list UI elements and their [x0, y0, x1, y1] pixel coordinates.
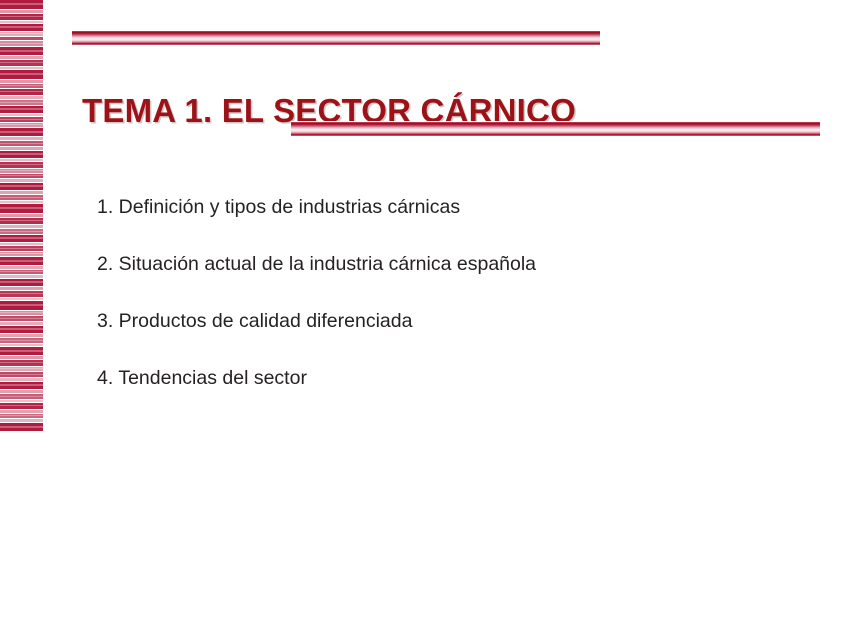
stripe-segment [0, 56, 43, 59]
stripe-segment [0, 174, 43, 178]
stripe-segment [0, 191, 43, 194]
stripe-segment [0, 311, 43, 315]
stripe-segment [0, 316, 43, 321]
stripe-segment [0, 159, 43, 161]
stripe-segment [0, 338, 43, 343]
stripe-segment [0, 169, 43, 173]
stripe-segment [0, 403, 43, 409]
slide-canvas: TEMA 1. EL SECTOR CÁRNICO 1. Definición … [0, 0, 848, 636]
stripe-segment [0, 21, 43, 23]
stripe-segment [0, 67, 43, 69]
list-item: 3. Productos de calidad diferenciada [97, 309, 797, 333]
stripe-segment [0, 37, 43, 40]
stripe-segment [0, 257, 43, 265]
stripe-segment [0, 162, 43, 168]
list-item: 1. Definición y tipos de industrias cárn… [97, 195, 797, 219]
stripe-segment [0, 414, 43, 418]
stripe-segment [0, 322, 43, 325]
stripe-segment [0, 117, 43, 122]
stripe-segment [0, 60, 43, 66]
list-item: 4. Tendencias del sector [97, 366, 797, 390]
stripe-segment [0, 390, 43, 393]
decorative-stripe-bar [0, 0, 43, 431]
stripe-segment [0, 275, 43, 278]
stripe-segment [0, 291, 43, 297]
stripe-segment [0, 423, 43, 431]
stripe-segment [0, 360, 43, 366]
stripe-segment [0, 10, 43, 13]
agenda-list: 1. Definición y tipos de industrias cárn… [97, 195, 797, 423]
stripe-segment [0, 347, 43, 355]
stripe-segment [0, 147, 43, 150]
stripe-segment [0, 214, 43, 217]
stripe-segment [0, 344, 43, 346]
stripe-segment [0, 410, 43, 413]
stripe-segment [0, 100, 43, 105]
stripe-segment [0, 47, 43, 55]
stripe-segment [0, 266, 43, 269]
stripe-segment [0, 246, 43, 251]
stripe-segment [0, 372, 43, 377]
stripe-segment [0, 24, 43, 31]
stripe-segment [0, 114, 43, 116]
stripe-segment [0, 279, 43, 286]
list-item: 2. Situación actual de la industria cárn… [97, 252, 797, 276]
stripe-segment [0, 70, 43, 79]
stripe-segment [0, 378, 43, 381]
stripe-segment [0, 235, 43, 242]
stripe-segment [0, 394, 43, 399]
stripe-segment [0, 89, 43, 95]
stripe-segment [0, 334, 43, 337]
stripe-segment [0, 298, 43, 300]
stripe-segment [0, 32, 43, 36]
stripe-segment [0, 183, 43, 190]
stripe-segment [0, 419, 43, 422]
stripe-segment [0, 400, 43, 402]
stripe-segment [0, 243, 43, 245]
title-rule-top [72, 30, 600, 45]
stripe-segment [0, 179, 43, 182]
stripe-segment [0, 0, 43, 9]
title-rule-bottom [291, 121, 820, 136]
stripe-segment [0, 326, 43, 333]
stripe-segment [0, 80, 43, 83]
stripe-segment [0, 301, 43, 310]
stripe-segment [0, 14, 43, 20]
stripe-segment [0, 204, 43, 213]
stripe-segment [0, 41, 43, 46]
stripe-segment [0, 84, 43, 88]
stripe-segment [0, 201, 43, 203]
stripe-segment [0, 252, 43, 256]
stripe-segment [0, 367, 43, 371]
stripe-segment [0, 382, 43, 389]
stripe-segment [0, 225, 43, 228]
stripe-segment [0, 137, 43, 140]
stripe-segment [0, 141, 43, 146]
stripe-segment [0, 287, 43, 290]
stripe-segment [0, 96, 43, 99]
stripe-segment [0, 123, 43, 127]
stripe-segment [0, 229, 43, 234]
stripe-segment [0, 106, 43, 113]
stripe-segment [0, 151, 43, 158]
stripe-segment [0, 270, 43, 274]
stripe-segment [0, 218, 43, 224]
stripe-segment [0, 356, 43, 359]
stripe-segment [0, 195, 43, 200]
stripe-segment [0, 128, 43, 136]
